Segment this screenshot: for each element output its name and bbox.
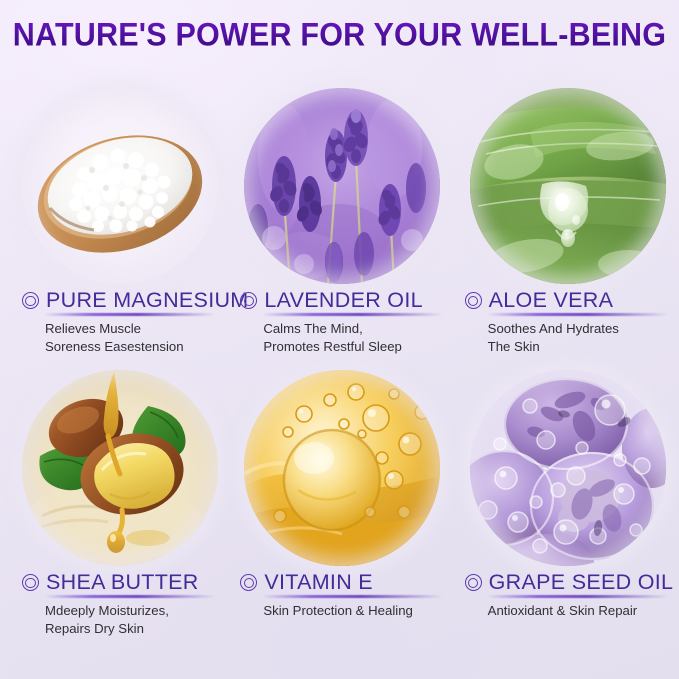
double-ring-circle-icon bbox=[240, 574, 257, 591]
heading-text: LAVENDER OIL bbox=[264, 290, 423, 312]
description-aloe-vera: Soothes And Hydrates The Skin bbox=[465, 320, 679, 356]
heading-vitamin-e: VITAMIN E bbox=[240, 572, 452, 598]
description-shea-butter: Mdeeply Moisturizes, Repairs Dry Skin bbox=[22, 602, 226, 638]
caption-lavender-oil: LAVENDER OIL Calms The Mind, Promotes Re… bbox=[232, 290, 452, 356]
ingredient-grid: PURE MAGNESIUM Relieves Muscle Soreness … bbox=[0, 88, 679, 638]
caption-pure-magnesium: PURE MAGNESIUM Relieves Muscle Soreness … bbox=[14, 290, 226, 356]
ingredient-row-2: SHEA BUTTER Mdeeply Moisturizes, Repairs… bbox=[0, 370, 679, 638]
heading-grape-seed-oil: GRAPE SEED OIL bbox=[465, 572, 679, 598]
page-title: NATURE'S POWER FOR YOUR WELL-BEING bbox=[13, 17, 666, 54]
caption-vitamin-e: VITAMIN E Skin Protection & Healing bbox=[232, 572, 452, 620]
ingredient-card-vitamin-e: VITAMIN E Skin Protection & Healing bbox=[226, 370, 452, 638]
double-ring-circle-icon bbox=[465, 292, 482, 309]
shea-nuts-with-butter-and-oil-image bbox=[22, 370, 218, 566]
poster-title-container: NATURE'S POWER FOR YOUR WELL-BEING bbox=[0, 18, 679, 53]
heading-pure-magnesium: PURE MAGNESIUM bbox=[22, 290, 226, 316]
ingredient-row-1: PURE MAGNESIUM Relieves Muscle Soreness … bbox=[0, 88, 679, 356]
ingredient-card-grape-seed-oil: GRAPE SEED OIL Antioxidant & Skin Repair bbox=[453, 370, 679, 638]
purple-grape-seed-oil-cells-image bbox=[470, 370, 666, 566]
ingredient-card-lavender-oil: LAVENDER OIL Calms The Mind, Promotes Re… bbox=[226, 88, 452, 356]
heading-aloe-vera: ALOE VERA bbox=[465, 290, 679, 316]
caption-aloe-vera: ALOE VERA Soothes And Hydrates The Skin bbox=[457, 290, 679, 356]
lavender-flowers-image bbox=[244, 88, 440, 284]
magnesium-flakes-on-wooden-spoon-image bbox=[22, 88, 218, 284]
description-vitamin-e: Skin Protection & Healing bbox=[240, 602, 452, 620]
description-grape-seed-oil: Antioxidant & Skin Repair bbox=[465, 602, 679, 620]
golden-oil-bubbles-image bbox=[244, 370, 440, 566]
heading-lavender-oil: LAVENDER OIL bbox=[240, 290, 452, 316]
caption-shea-butter: SHEA BUTTER Mdeeply Moisturizes, Repairs… bbox=[14, 572, 226, 638]
double-ring-circle-icon bbox=[240, 292, 257, 309]
caption-grape-seed-oil: GRAPE SEED OIL Antioxidant & Skin Repair bbox=[457, 572, 679, 620]
ingredient-card-aloe-vera: ALOE VERA Soothes And Hydrates The Skin bbox=[453, 88, 679, 356]
heading-text: PURE MAGNESIUM bbox=[46, 290, 249, 312]
ingredient-card-shea-butter: SHEA BUTTER Mdeeply Moisturizes, Repairs… bbox=[0, 370, 226, 638]
heading-text: VITAMIN E bbox=[264, 572, 373, 594]
ingredient-card-pure-magnesium: PURE MAGNESIUM Relieves Muscle Soreness … bbox=[0, 88, 226, 356]
aloe-vera-leaf-gel-droplet-image bbox=[470, 88, 666, 284]
infographic-poster: NATURE'S POWER FOR YOUR WELL-BEING bbox=[0, 0, 679, 679]
double-ring-circle-icon bbox=[465, 574, 482, 591]
heading-text: GRAPE SEED OIL bbox=[489, 572, 674, 594]
heading-text: SHEA BUTTER bbox=[46, 572, 199, 594]
double-ring-circle-icon bbox=[22, 292, 39, 309]
double-ring-circle-icon bbox=[22, 574, 39, 591]
description-lavender-oil: Calms The Mind, Promotes Restful Sleep bbox=[240, 320, 452, 356]
heading-text: ALOE VERA bbox=[489, 290, 614, 312]
description-pure-magnesium: Relieves Muscle Soreness Easestension bbox=[22, 320, 226, 356]
heading-shea-butter: SHEA BUTTER bbox=[22, 572, 226, 598]
